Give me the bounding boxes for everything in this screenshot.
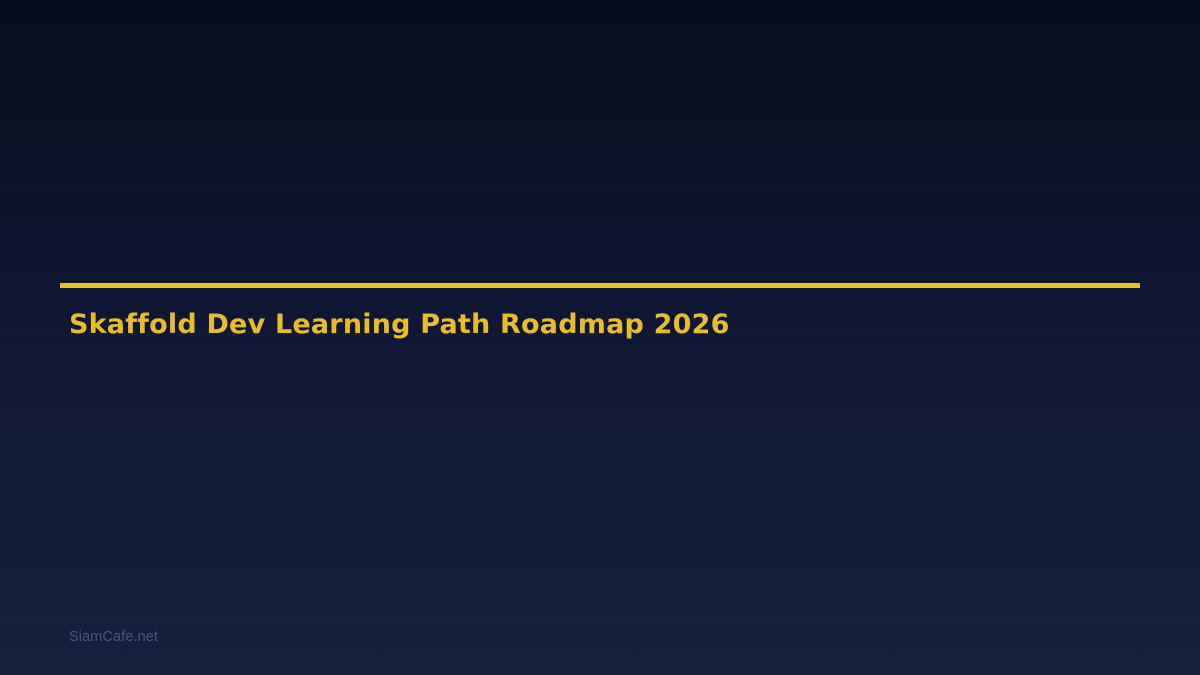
title-block: Skaffold Dev Learning Path Roadmap 2026 bbox=[60, 283, 1140, 288]
footer-credit: SiamCafe.net bbox=[69, 629, 158, 646]
title-slide: Skaffold Dev Learning Path Roadmap 2026 … bbox=[0, 0, 1200, 675]
page-title: Skaffold Dev Learning Path Roadmap 2026 bbox=[69, 308, 730, 342]
accent-rule bbox=[60, 283, 1140, 288]
